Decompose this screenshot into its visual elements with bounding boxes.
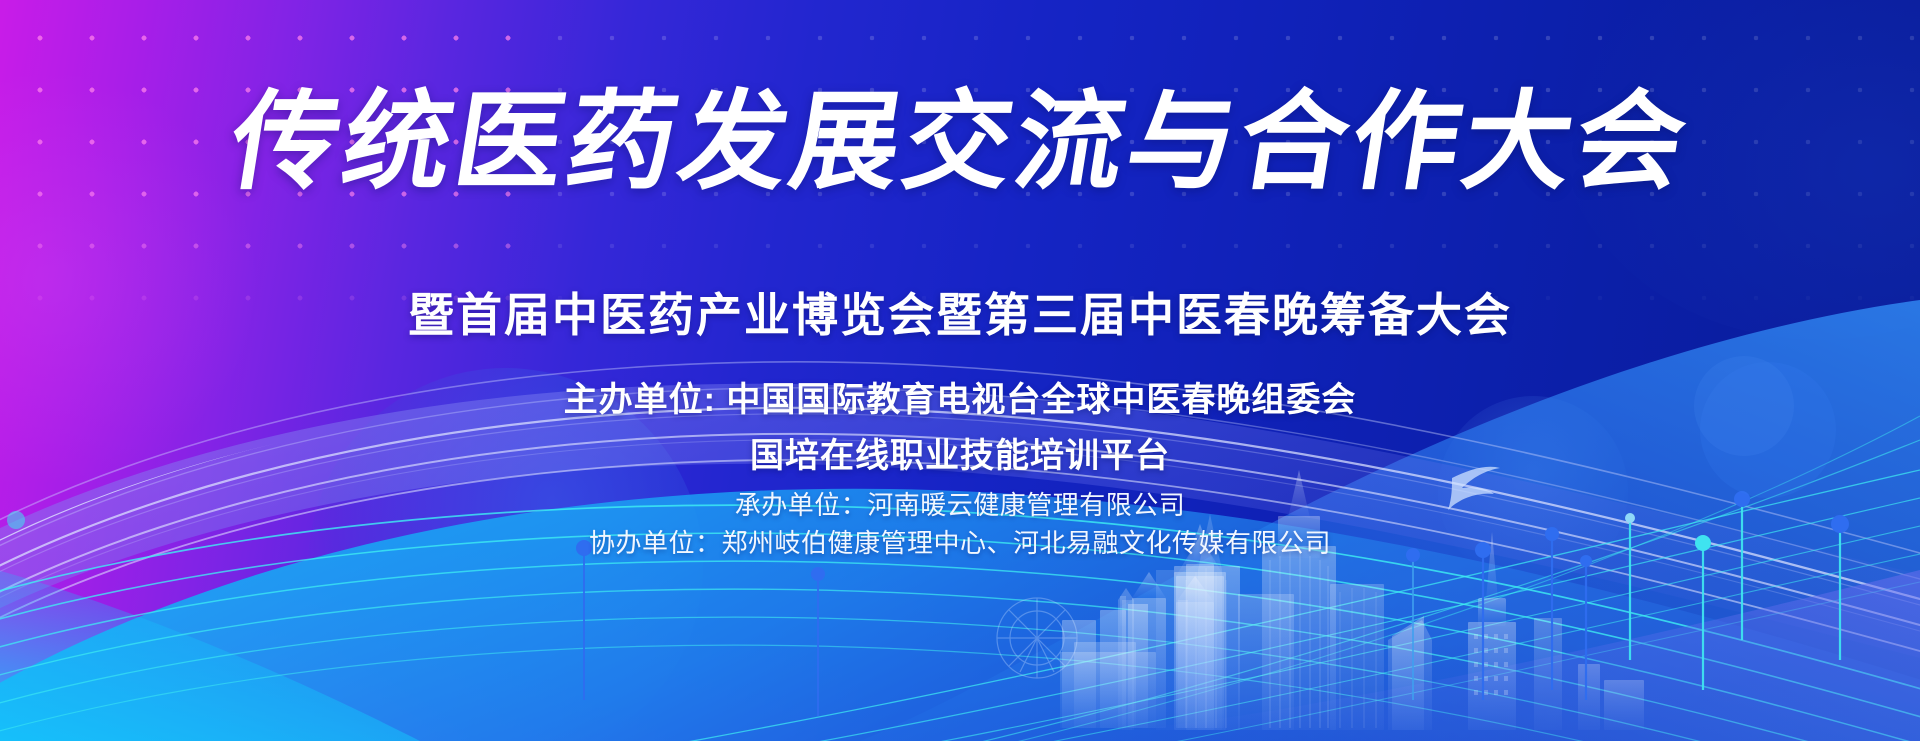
host-organization-line-1: 主办单位: 中国国际教育电视台全球中医春晚组委会 — [0, 380, 1920, 421]
host-organization-line-2: 国培在线职业技能培训平台 — [0, 436, 1920, 477]
page-subtitle: 暨首届中医药产业博览会暨第三届中医春晚筹备大会 — [0, 288, 1920, 343]
organizer-line: 承办单位：河南暖云健康管理有限公司 — [0, 490, 1920, 521]
conference-banner: 传统医药发展交流与合作大会 暨首届中医药产业博览会暨第三届中医春晚筹备大会 主办… — [0, 0, 1920, 741]
banner-content: 传统医药发展交流与合作大会 暨首届中医药产业博览会暨第三届中医春晚筹备大会 主办… — [0, 0, 1920, 741]
co-organizer-line: 协办单位：郑州岐伯健康管理中心、河北易融文化传媒有限公司 — [0, 528, 1920, 559]
page-title: 传统医药发展交流与合作大会 — [0, 86, 1920, 200]
